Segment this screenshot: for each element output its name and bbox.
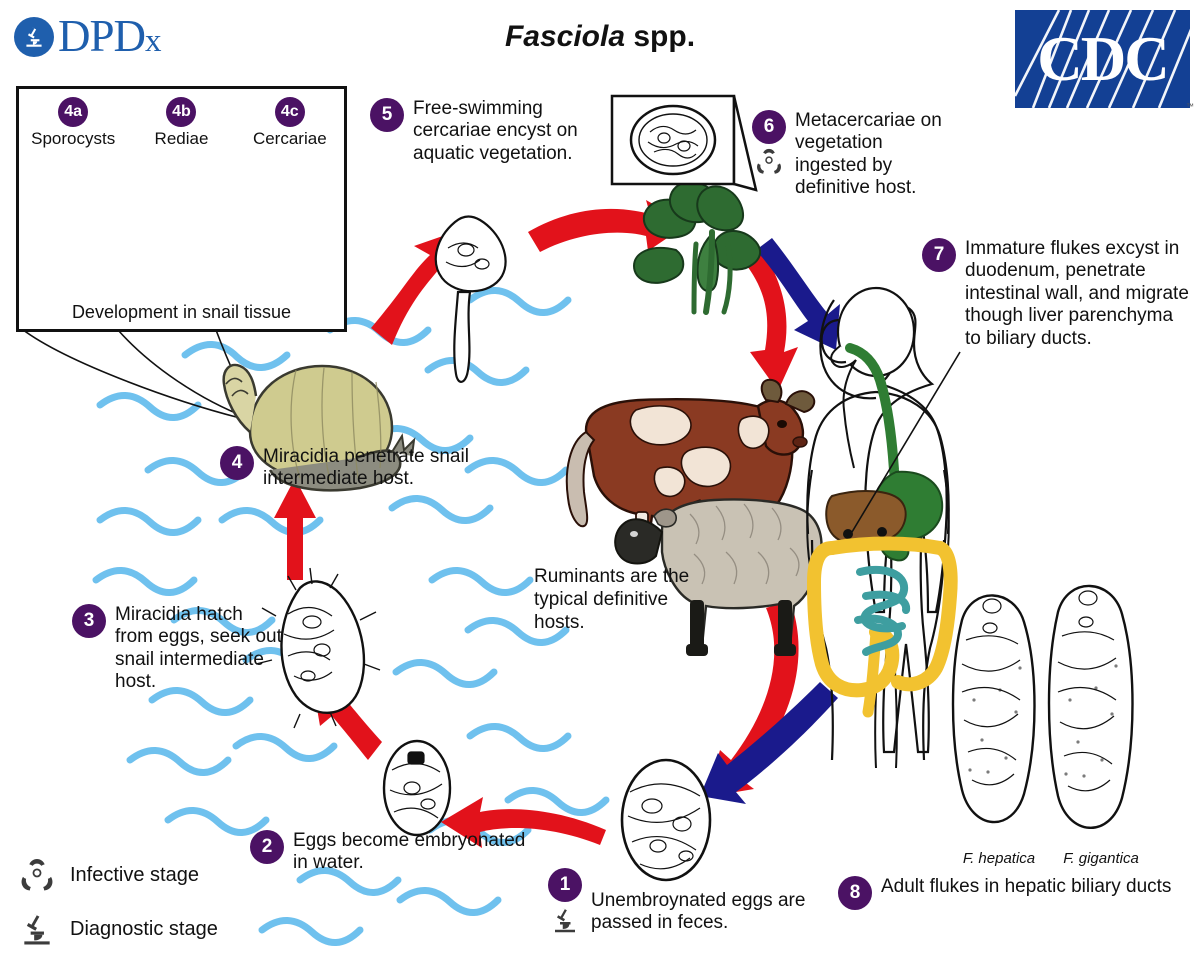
blue-infective-arrows xyxy=(700,238,840,804)
badge-4b: 4b xyxy=(166,97,196,127)
dev-stage-sporocysts: 4a Sporocysts xyxy=(23,97,123,149)
step-1: 1 Unembroynated eggs are passed in feces… xyxy=(548,868,838,935)
step-8: 8 Adult flukes in hepatic biliary ducts xyxy=(838,876,1188,910)
step-1-text: Unembroynated eggs are passed in feces. xyxy=(591,868,838,935)
step-4: 4 Miracidia penetrate snail intermediate… xyxy=(220,446,480,491)
biohazard-icon xyxy=(754,147,784,177)
dev-stage-label-cercariae: Cercariae xyxy=(240,129,340,149)
step-6: 6 Metacercariae on vegetation ingested b… xyxy=(752,110,952,200)
badge-8: 8 xyxy=(838,876,872,910)
badge-2: 2 xyxy=(250,830,284,864)
dev-stage-rediae: 4b Rediae xyxy=(131,97,231,149)
dev-box-caption: Development in snail tissue xyxy=(19,302,344,323)
dev-stage-label-sporocysts: Sporocysts xyxy=(23,129,123,149)
step-4-text: Miracidia penetrate snail intermediate h… xyxy=(263,446,480,491)
legend-label-infective: Infective stage xyxy=(70,864,199,887)
badge-4c: 4c xyxy=(275,97,305,127)
adult-fluke-gigantica xyxy=(1049,586,1133,828)
development-in-snail-tissue-box: 4a Sporocysts 4b Rediae 4c Cercariae Dev… xyxy=(16,86,347,332)
legend-label-diagnostic: Diagnostic stage xyxy=(70,918,218,941)
microscope-icon xyxy=(550,905,580,935)
step-7-text: Immature flukes excyst in duodenum, pene… xyxy=(965,238,1192,350)
cow-definitive-host xyxy=(567,380,814,562)
human-definitive-host xyxy=(807,288,960,768)
badge-4: 4 xyxy=(220,446,254,480)
cdc-trademark: ™ xyxy=(1186,102,1194,111)
aquatic-vegetation xyxy=(634,182,760,312)
legend-item-infective: Infective stage xyxy=(18,856,218,894)
step-7: 7 Immature flukes excyst in duodenum, pe… xyxy=(922,238,1192,350)
title-genus: Fasciola xyxy=(505,20,625,53)
unembryonated-egg xyxy=(622,760,710,880)
step-2-text: Eggs become embryonated in water. xyxy=(293,830,530,875)
cdc-wordmark: CDC xyxy=(1015,10,1190,108)
cdc-logo: CDC xyxy=(1015,10,1190,108)
step-3: 3 Miracidia hatch from eggs, seek out sn… xyxy=(72,604,282,694)
dev-box-pointer-lines xyxy=(18,326,254,418)
free-swimming-cercaria xyxy=(436,216,506,382)
step-6-text: Metacercariae on vegetation ingested by … xyxy=(795,110,952,200)
step-3-text: Miracidia hatch from eggs, seek out snai… xyxy=(115,604,282,694)
metacercaria-inset xyxy=(612,96,756,190)
step-5-text: Free-swimming cercariae encyst on aquati… xyxy=(413,98,600,165)
badge-7: 7 xyxy=(922,238,956,272)
fluke-label-gigantica: F. gigantica xyxy=(1042,850,1160,867)
badge-3: 3 xyxy=(72,604,106,638)
dev-stage-cercariae: 4c Cercariae xyxy=(240,97,340,149)
fluke-label-hepatica: F. hepatica xyxy=(944,850,1054,867)
step-6-icons: 6 xyxy=(752,110,786,177)
microscope-icon xyxy=(18,910,56,948)
badge-5: 5 xyxy=(370,98,404,132)
embryonated-egg xyxy=(384,741,450,835)
biohazard-icon xyxy=(18,856,56,894)
legend-item-diagnostic: Diagnostic stage xyxy=(18,910,218,948)
ruminants-annotation: Ruminants are the typical definitive hos… xyxy=(534,566,704,634)
dev-stage-label-rediae: Rediae xyxy=(131,129,231,149)
step-1-icons: 1 xyxy=(548,868,582,935)
adult-fluke-hepatica xyxy=(953,595,1035,822)
badge-4a: 4a xyxy=(58,97,88,127)
step-5: 5 Free-swimming cercariae encyst on aqua… xyxy=(370,98,600,165)
step-2: 2 Eggs become embryonated in water. xyxy=(250,830,530,875)
badge-1: 1 xyxy=(548,868,582,902)
badge-6: 6 xyxy=(752,110,786,144)
title-epithet: spp. xyxy=(633,20,695,53)
legend: Infective stage Diagnostic stage xyxy=(18,856,218,964)
step-8-text: Adult flukes in hepatic biliary ducts xyxy=(881,876,1171,898)
